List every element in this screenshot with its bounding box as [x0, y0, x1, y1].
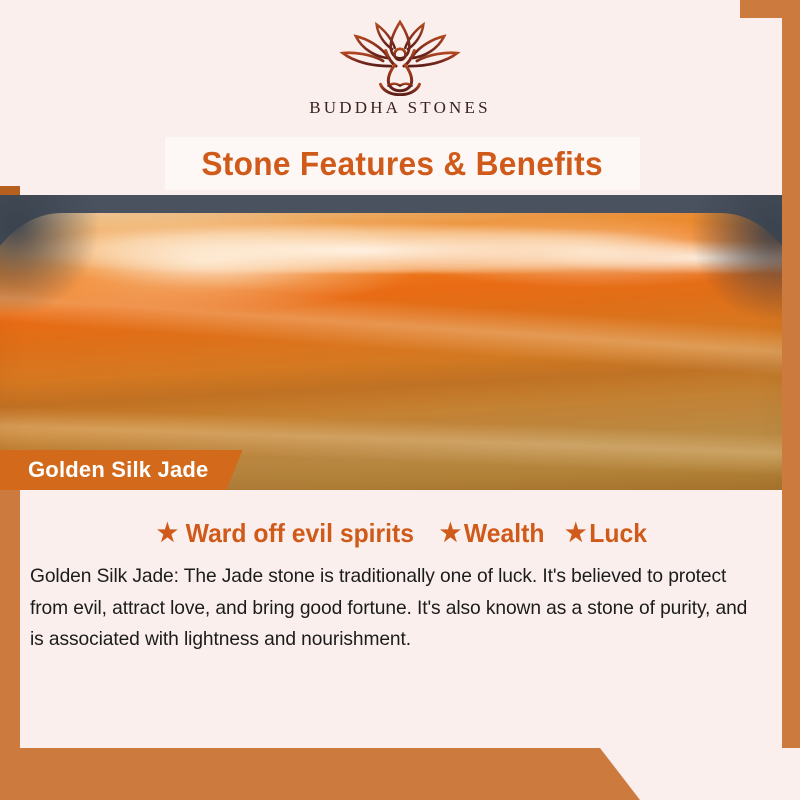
benefit-label-0: Ward off evil spirits — [186, 518, 414, 549]
frame-right-cutout — [782, 748, 800, 800]
star-icon: ★ — [566, 521, 587, 546]
brand-name: BUDDHA STONES — [309, 98, 491, 118]
benefit-label-2: Luck — [590, 518, 648, 549]
stone-slab — [0, 213, 782, 490]
benefit-item-1: ★ Wealth — [440, 518, 545, 549]
benefits-list: ★ Ward off evil spirits ★ Wealth ★ Luck — [30, 518, 770, 549]
stone-photo — [0, 195, 782, 490]
frame-bottom-bar — [0, 748, 640, 800]
stone-name-banner: Golden Silk Jade — [0, 450, 242, 490]
star-icon: ★ — [440, 521, 461, 546]
stone-name: Golden Silk Jade — [28, 457, 208, 483]
page-title-box: Stone Features & Benefits — [165, 137, 640, 190]
star-icon: ★ — [157, 521, 178, 546]
content-area: ★ Ward off evil spirits ★ Wealth ★ Luck … — [0, 500, 800, 675]
benefit-item-0: ★ Ward off evil spirits — [157, 518, 414, 549]
poster-canvas: BUDDHA STONES Stone Features & Benefits … — [0, 0, 800, 800]
page-title: Stone Features & Benefits — [202, 145, 604, 183]
brand-header: BUDDHA STONES — [0, 0, 800, 137]
benefit-item-2: ★ Luck — [566, 518, 648, 549]
benefit-label-1: Wealth — [464, 518, 545, 549]
lotus-meditation-icon — [334, 18, 466, 96]
stone-description: Golden Silk Jade: The Jade stone is trad… — [30, 561, 759, 656]
